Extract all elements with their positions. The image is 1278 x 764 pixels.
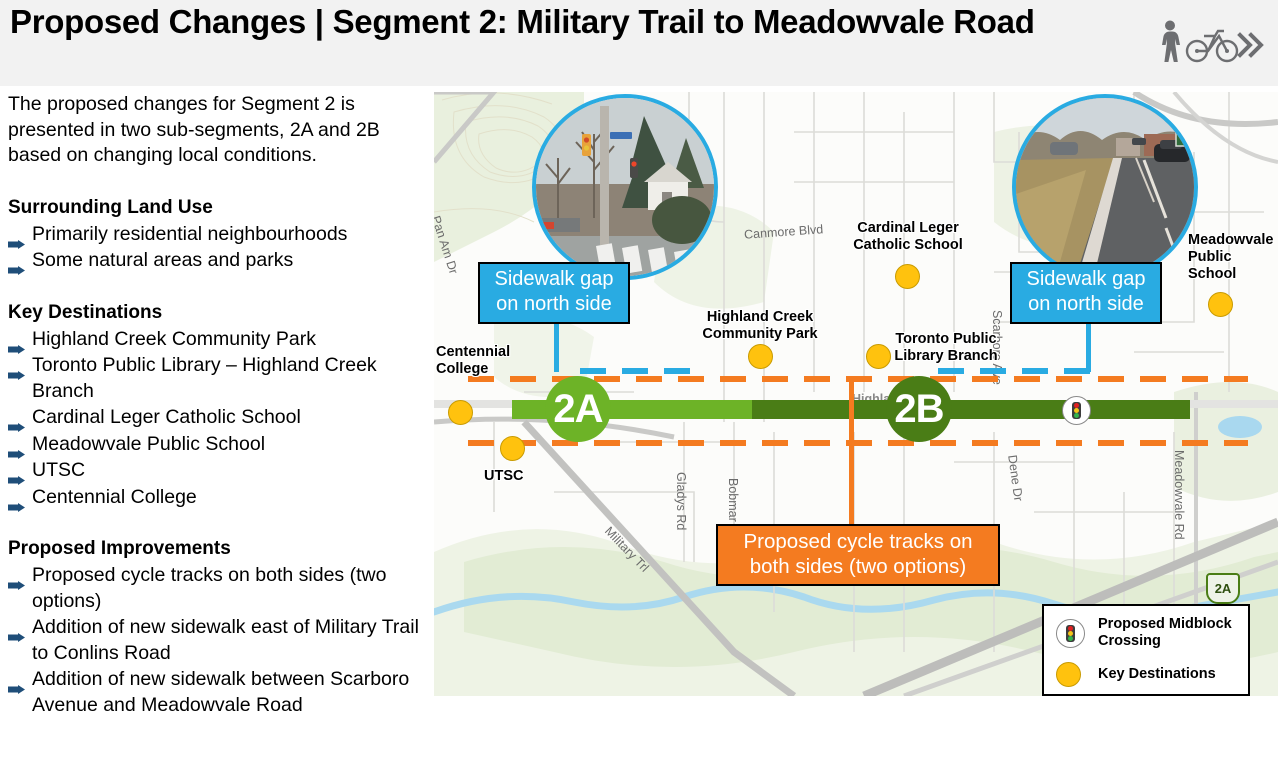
route-segment-2b-line	[752, 400, 1190, 419]
page-title: Proposed Changes | Segment 2: Military T…	[10, 2, 1130, 41]
double-chevron-icon	[1240, 35, 1261, 55]
section-heading: Surrounding Land Use	[8, 195, 420, 221]
section-heading: Proposed Improvements	[8, 536, 420, 562]
list-item-label: Primarily residential neighbourhoods	[32, 223, 347, 245]
callout-cycle-tracks[interactable]: Proposed cycle tracks on both sides (two…	[716, 524, 1000, 586]
bicycle-icon	[1187, 31, 1237, 61]
arrow-bullet-icon	[8, 494, 25, 503]
list-item: Toronto Public Library – Highland Creek …	[8, 353, 420, 404]
intro-paragraph: The proposed changes for Segment 2 is pr…	[8, 92, 420, 169]
list-item-label: Toronto Public Library – Highland Creek …	[32, 354, 377, 402]
brand-logo	[1156, 18, 1264, 66]
list-item: Proposed cycle tracks on both sides (two…	[8, 563, 420, 614]
arrow-bullet-icon	[8, 467, 25, 476]
yellow-dot-icon-legend	[1056, 662, 1081, 687]
street-label-gladys-rd: Gladys Rd	[674, 472, 688, 530]
poi-label-cardinal-leger-catholic-school: Cardinal Leger Catholic School	[846, 220, 970, 254]
list-item-label: Cardinal Leger Catholic School	[32, 406, 301, 428]
arrow-bullet-icon	[8, 676, 25, 685]
list-item: Cardinal Leger Catholic School	[8, 405, 420, 431]
section-key-destinations: Key Destinations Highland Creek Communit…	[8, 300, 420, 511]
poi-label-meadowvale-public-school: Meadowvale Public School	[1188, 232, 1276, 283]
arrow-bullet-icon	[8, 441, 25, 450]
street-photo-east	[1012, 94, 1198, 280]
poi-label-utsc: UTSC	[484, 468, 544, 485]
section-spacer	[8, 278, 420, 300]
poi-dot-cardinal-leger-catholic-school[interactable]	[895, 264, 920, 289]
list-item-label: Proposed cycle tracks on both sides (two…	[32, 564, 386, 612]
list-item-label: Meadowvale Public School	[32, 433, 265, 455]
list-item: Centennial College	[8, 485, 420, 511]
legend-label-key-destinations: Key Destinations	[1098, 666, 1238, 683]
list-item: UTSC	[8, 458, 420, 484]
segment-badge-2a[interactable]: 2A	[545, 376, 611, 442]
bullet-list: Highland Creek Community Park Toronto Pu…	[8, 327, 420, 511]
arrow-bullet-icon	[8, 624, 25, 633]
street-label-meadowvale-rd: Meadowvale Rd	[1172, 450, 1186, 540]
section-heading: Key Destinations	[8, 300, 420, 326]
legend-label-midblock-crossing: Proposed Midblock Crossing	[1098, 616, 1238, 650]
sidewalk-gap-dashed-west	[580, 368, 700, 374]
list-item: Highland Creek Community Park	[8, 327, 420, 353]
list-item-label: Highland Creek Community Park	[32, 328, 316, 350]
bullet-list: Proposed cycle tracks on both sides (two…	[8, 563, 420, 718]
map-legend: Proposed Midblock Crossing Key Destinati…	[1042, 604, 1250, 696]
poi-label-highland-creek-community-park: Highland Creek Community Park	[696, 309, 824, 343]
bullet-list: Primarily residential neighbourhoods Som…	[8, 222, 420, 274]
traffic-signal-icon-legend	[1056, 619, 1085, 648]
list-item: Some natural areas and parks	[8, 248, 420, 274]
list-item: Meadowvale Public School	[8, 432, 420, 458]
legend-row-key-destinations: Key Destinations	[1056, 662, 1242, 687]
section-spacer	[8, 514, 420, 536]
callout-sidewalk-gap-east[interactable]: Sidewalk gap on north side	[1010, 262, 1162, 324]
arrow-bullet-icon	[8, 362, 25, 371]
traffic-signal-icon-map	[1062, 396, 1091, 425]
left-content-column: The proposed changes for Segment 2 is pr…	[8, 92, 420, 722]
list-item: Primarily residential neighbourhoods	[8, 222, 420, 248]
list-item-label: Addition of new sidewalk between Scarbor…	[32, 668, 409, 716]
legend-row-midblock-crossing: Proposed Midblock Crossing	[1056, 616, 1242, 650]
arrow-bullet-icon	[8, 257, 25, 266]
segment-badge-2b[interactable]: 2B	[886, 376, 952, 442]
slide-header: Proposed Changes | Segment 2: Military T…	[0, 0, 1278, 86]
arrow-bullet-icon	[8, 414, 25, 423]
callout-sidewalk-gap-west[interactable]: Sidewalk gap on north side	[478, 262, 630, 324]
arrow-bullet-icon	[8, 231, 25, 240]
section-surrounding-land-use: Surrounding Land Use Primarily residenti…	[8, 195, 420, 274]
poi-dot-highland-creek-community-park[interactable]	[748, 344, 773, 369]
pedestrian-icon	[1162, 21, 1180, 63]
section-proposed-improvements: Proposed Improvements Proposed cycle tra…	[8, 536, 420, 718]
poi-dot-utsc[interactable]	[500, 436, 525, 461]
list-item-label: Addition of new sidewalk east of Militar…	[32, 616, 419, 664]
list-item-label: Some natural areas and parks	[32, 249, 293, 271]
list-item-label: UTSC	[32, 459, 85, 481]
list-item: Addition of new sidewalk between Scarbor…	[8, 667, 420, 718]
list-item-label: Centennial College	[32, 486, 197, 508]
poi-label-toronto-public-library-branch: Toronto Public Library Branch	[888, 331, 1004, 365]
street-photo-west	[532, 94, 718, 280]
arrow-bullet-icon	[8, 336, 25, 345]
poi-label-centennial-college: Centennial College	[436, 344, 510, 378]
list-item: Addition of new sidewalk east of Militar…	[8, 615, 420, 666]
sidewalk-gap-dashed-east	[938, 368, 1104, 374]
route-shield-2a: 2A	[1206, 573, 1240, 604]
arrow-bullet-icon	[8, 572, 25, 581]
poi-dot-centennial-college[interactable]	[448, 400, 473, 425]
poi-dot-meadowvale-public-school[interactable]	[1208, 292, 1233, 317]
